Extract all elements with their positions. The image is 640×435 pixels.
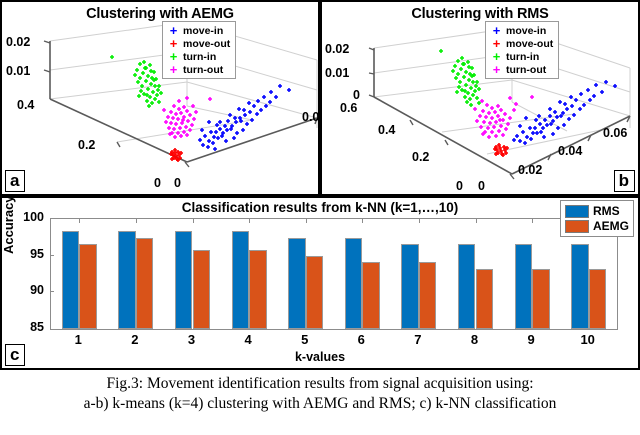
x-tick-label-8: 8	[455, 332, 495, 347]
y-tick-mark	[50, 255, 54, 256]
bar-rms-k2	[118, 231, 136, 329]
bar-rms-k8	[458, 244, 476, 329]
x-gridline-tick	[476, 219, 477, 223]
bar-chart-plot-area	[50, 218, 618, 330]
bar-rms-k5	[288, 238, 306, 329]
panel-a-ztick-0: 0.02	[6, 35, 30, 49]
y-tick-label-85: 85	[4, 320, 44, 334]
bar-rms-k4	[232, 231, 250, 329]
aemg-swatch-icon	[565, 220, 589, 233]
move-in-marker-icon: +	[489, 26, 504, 36]
bar-rms-k10	[571, 244, 589, 329]
bar-aemg-k5	[306, 256, 324, 329]
bar-rms-k3	[175, 231, 193, 329]
x-gridline-tick	[193, 219, 194, 223]
panel-a-ytick-1: 0.2	[78, 138, 95, 152]
y-tick-label-100: 100	[4, 210, 44, 224]
cluster-move-in	[512, 80, 617, 145]
caption-line-2: a-b) k-means (k=4) clustering with AEMG …	[0, 394, 640, 414]
bar-aemg-k9	[532, 269, 550, 329]
bar-rms-k1	[62, 231, 80, 329]
x-tick-label-6: 6	[341, 332, 381, 347]
cluster-move-in	[198, 84, 291, 151]
x-tick-label-5: 5	[285, 332, 325, 347]
legend-label-turn-out: turn-out	[183, 64, 223, 76]
legend-label-move-out: move-out	[506, 38, 553, 50]
x-gridline-tick	[79, 219, 80, 223]
legend-label-turn-in: turn-in	[506, 51, 539, 63]
x-tick-label-10: 10	[568, 332, 608, 347]
panel-a-axes	[2, 2, 318, 194]
x-tick-label-9: 9	[511, 332, 551, 347]
legend-label-turn-out: turn-out	[506, 64, 546, 76]
bar-rms-k6	[345, 238, 363, 329]
x-gridline-tick	[249, 219, 250, 223]
cluster-turn-in	[110, 55, 163, 108]
turn-out-marker-icon: +	[489, 65, 504, 75]
panel-a-ytick-2: 0	[154, 176, 161, 190]
bar-chart-xlabel: k-values	[2, 350, 638, 364]
panel-b-axes	[322, 2, 638, 194]
move-out-marker-icon: +	[166, 39, 181, 49]
panel-c-tag: c	[5, 344, 25, 366]
panel-a-xtick-0: 0	[174, 176, 181, 190]
x-gridline-tick	[532, 219, 533, 223]
panel-a-tag: a	[5, 170, 25, 192]
turn-in-marker-icon: +	[489, 52, 504, 62]
panel-b-ytick-0: 0.6	[340, 101, 357, 115]
panel-b-xtick-2: 0.04	[558, 144, 582, 158]
panel-b-ztick-1: 0.01	[325, 66, 349, 80]
legend-label-aemg: AEMG	[593, 219, 629, 233]
bar-aemg-k8	[476, 269, 494, 329]
y-tick-label-90: 90	[4, 283, 44, 297]
caption-line-1: Fig.3: Movement identification results f…	[0, 374, 640, 394]
panel-b-tag: b	[614, 170, 635, 192]
move-out-marker-icon: +	[489, 39, 504, 49]
legend-label-move-out: move-out	[183, 38, 230, 50]
bar-aemg-k4	[249, 250, 267, 329]
panel-b-ytick-1: 0.4	[378, 123, 395, 137]
x-gridline-tick	[136, 219, 137, 223]
y-tick-mark	[50, 291, 54, 292]
legend-item-turn-out: + turn-out	[489, 63, 553, 76]
bar-chart-legend: RMS AEMG	[560, 200, 634, 237]
legend-label-rms: RMS	[593, 204, 620, 218]
bar-aemg-k3	[193, 250, 211, 329]
figure-caption: Fig.3: Movement identification results f…	[0, 374, 640, 414]
panel-a-ytick-0: 0.4	[17, 98, 34, 112]
bar-rms-k7	[401, 244, 419, 329]
clustering-panels-row: Clustering with AEMG	[0, 0, 640, 196]
legend-label-turn-in: turn-in	[183, 51, 216, 63]
move-in-marker-icon: +	[166, 26, 181, 36]
legend-item-aemg: AEMG	[565, 219, 629, 233]
x-tick-label-1: 1	[58, 332, 98, 347]
panel-a-ztick-1: 0.01	[6, 64, 30, 78]
cluster-move-out	[493, 143, 509, 157]
panel-a-legend: + move-in + move-out + turn-in + turn-ou…	[162, 21, 236, 79]
cluster-turn-in	[439, 49, 481, 107]
panel-b-xtick-0: 0	[478, 179, 485, 193]
x-gridline-tick	[419, 219, 420, 223]
x-gridline-tick	[362, 219, 363, 223]
panel-b-axes-svg	[322, 2, 640, 198]
panel-b-ytick-3: 0	[456, 179, 463, 193]
figure-3: Clustering with AEMG	[0, 0, 640, 435]
legend-label-move-in: move-in	[506, 25, 546, 37]
x-gridline-tick	[306, 219, 307, 223]
panel-c-knn-bar-chart: Classification results from k-NN (k=1,…,…	[0, 196, 640, 370]
bar-aemg-k10	[589, 269, 607, 329]
bar-aemg-k6	[362, 262, 380, 329]
x-tick-label-3: 3	[172, 332, 212, 347]
panel-b-xtick-3: 0.06	[603, 126, 627, 140]
x-tick-label-7: 7	[398, 332, 438, 347]
panel-b-legend: + move-in + move-out + turn-in + turn-ou…	[485, 21, 559, 79]
turn-in-marker-icon: +	[166, 52, 181, 62]
legend-label-move-in: move-in	[183, 25, 223, 37]
rms-swatch-icon	[565, 205, 589, 218]
x-tick-label-4: 4	[228, 332, 268, 347]
x-tick-label-2: 2	[115, 332, 155, 347]
panel-b-clustering-rms: Clustering with RMS	[320, 0, 640, 196]
panel-b-ytick-2: 0.2	[412, 150, 429, 164]
bar-aemg-k2	[136, 238, 154, 329]
panel-b-ztick-2: 0	[353, 88, 360, 102]
bar-rms-k9	[515, 244, 533, 329]
legend-item-turn-out: + turn-out	[166, 63, 230, 76]
panel-b-xtick-1: 0.02	[518, 163, 542, 177]
turn-out-marker-icon: +	[166, 65, 181, 75]
panel-a-clustering-aemg: Clustering with AEMG	[0, 0, 320, 196]
bar-chart-ylabel: Accuracy	[1, 195, 16, 254]
panel-b-ztick-0: 0.02	[325, 42, 349, 56]
bar-chart-title: Classification results from k-NN (k=1,…,…	[2, 200, 638, 215]
bar-aemg-k7	[419, 262, 437, 329]
y-tick-label-95: 95	[4, 247, 44, 261]
bar-aemg-k1	[79, 244, 97, 329]
legend-item-rms: RMS	[565, 204, 629, 218]
